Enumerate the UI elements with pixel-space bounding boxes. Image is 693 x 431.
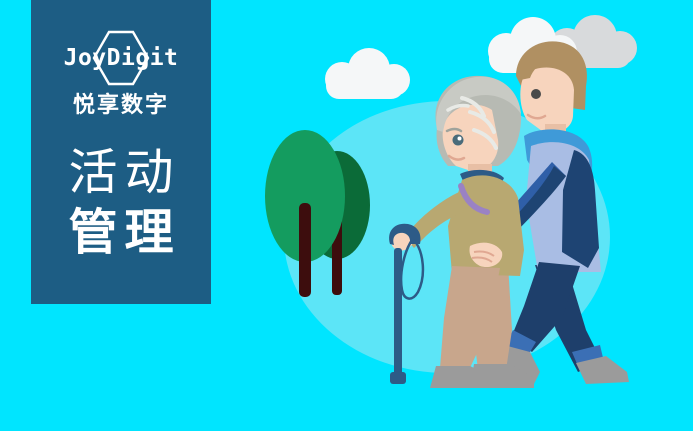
title-panel: JoyDigit 悦享数字 活动 管理 (31, 0, 211, 304)
brand-logo: JoyDigit (46, 30, 196, 86)
poster-canvas: JoyDigit 悦享数字 活动 管理 (0, 0, 693, 431)
cloud-left (325, 48, 410, 99)
brand-name-chinese: 悦享数字 (73, 95, 169, 117)
young-man-eye (531, 89, 541, 99)
woman-eye (453, 135, 464, 146)
page-title-line1: 活动 (61, 144, 180, 202)
page-title-line2: 管理 (61, 204, 180, 262)
brand-name-latin: JoyDigit (64, 47, 179, 70)
